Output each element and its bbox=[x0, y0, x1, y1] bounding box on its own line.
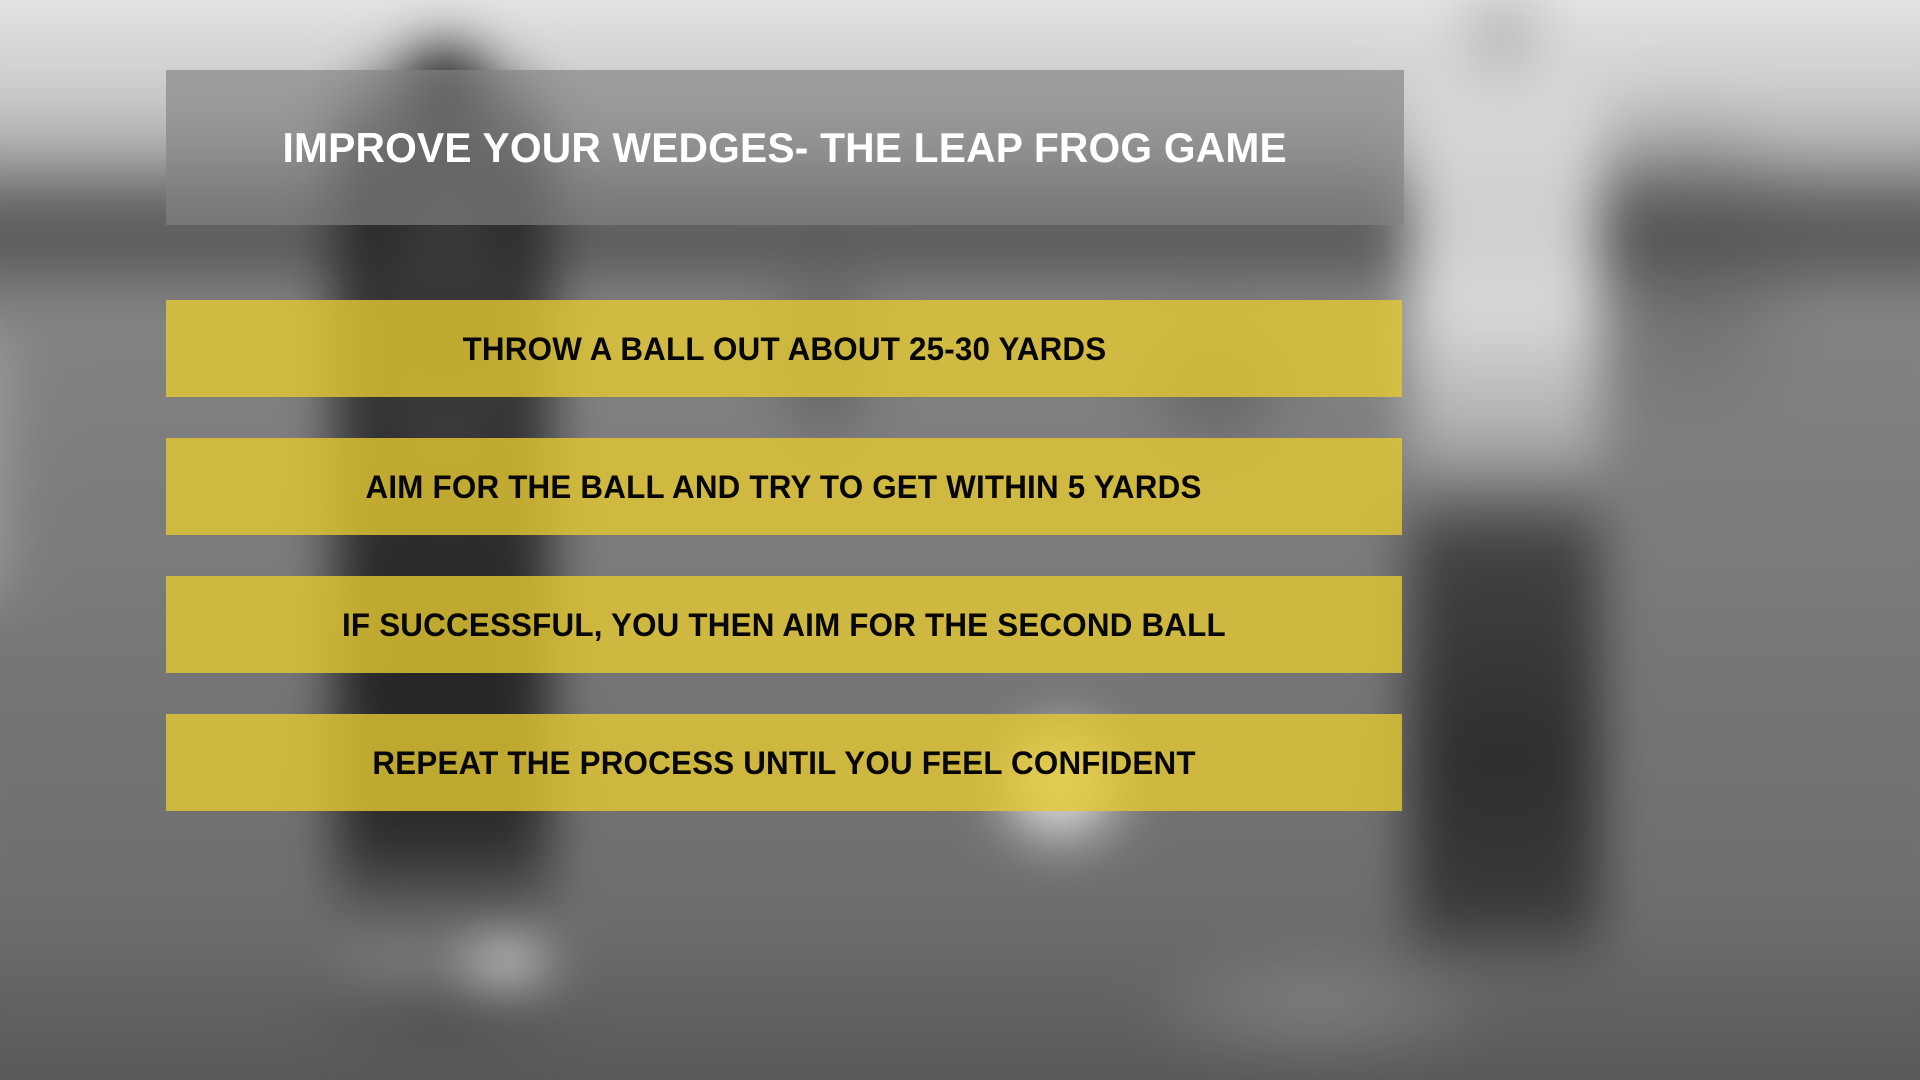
instruction-step-3-label: IF SUCCESSFUL, YOU THEN AIM FOR THE SECO… bbox=[342, 609, 1226, 641]
slide-title: IMPROVE YOUR WEDGES- THE LEAP FROG GAME bbox=[283, 127, 1287, 169]
photo-light-streak bbox=[0, 340, 30, 600]
photo-foreground-object-left bbox=[300, 970, 580, 1060]
instruction-step-2-label: AIM FOR THE BALL AND TRY TO GET WITHIN 5… bbox=[366, 471, 1202, 503]
photo-ground-shadow bbox=[0, 900, 1920, 1080]
slide-canvas: IMPROVE YOUR WEDGES- THE LEAP FROG GAME … bbox=[0, 0, 1920, 1080]
instruction-step-4-label: REPEAT THE PROCESS UNTIL YOU FEEL CONFID… bbox=[372, 747, 1195, 779]
instruction-step-4: REPEAT THE PROCESS UNTIL YOU FEEL CONFID… bbox=[166, 714, 1402, 811]
instruction-step-3: IF SUCCESSFUL, YOU THEN AIM FOR THE SECO… bbox=[166, 576, 1402, 673]
photo-golfer-right bbox=[1410, 0, 1600, 990]
title-banner: IMPROVE YOUR WEDGES- THE LEAP FROG GAME bbox=[166, 70, 1404, 225]
instruction-step-1: THROW A BALL OUT ABOUT 25-30 YARDS bbox=[166, 300, 1402, 397]
instruction-step-1-label: THROW A BALL OUT ABOUT 25-30 YARDS bbox=[462, 333, 1106, 365]
instruction-step-2: AIM FOR THE BALL AND TRY TO GET WITHIN 5… bbox=[166, 438, 1402, 535]
photo-foreground-object-right bbox=[1150, 950, 1480, 1060]
instruction-steps-list: THROW A BALL OUT ABOUT 25-30 YARDS AIM F… bbox=[166, 300, 1402, 852]
